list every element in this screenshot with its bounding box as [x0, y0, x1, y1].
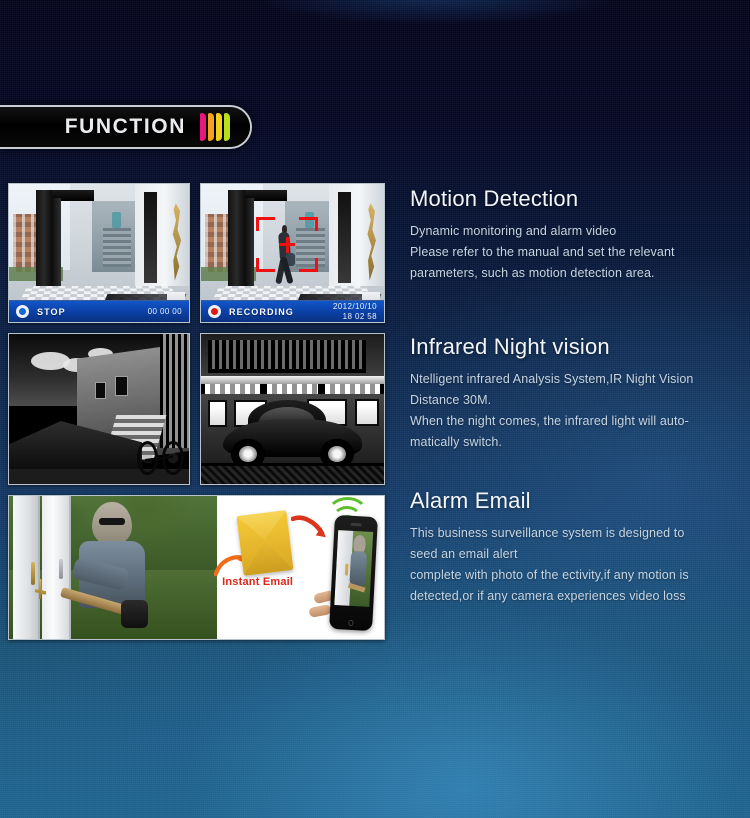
- instant-email-caption: Instant Email: [222, 576, 293, 588]
- banner-shell: FUNCTION: [0, 105, 252, 149]
- burglary-photo: [9, 496, 217, 639]
- banner-bar-3: [216, 113, 222, 141]
- banner-bar-4: [224, 113, 230, 141]
- stop-indicator-icon: [16, 305, 29, 318]
- feature-infrared-night-vision: Infrared Night vision Ntelligent infrare…: [410, 334, 750, 453]
- scene-night-street: [9, 334, 189, 484]
- feature-line: When the night comes, the infrared light…: [410, 411, 750, 432]
- function-banner: FUNCTION: [0, 105, 252, 149]
- phone-home-button: [349, 619, 354, 626]
- night-bicycle: [137, 430, 184, 475]
- dvr-status-bar-stop: STOP 00 00 00: [9, 300, 189, 322]
- banner-color-bars: [200, 112, 230, 142]
- night-ledge: [201, 376, 384, 384]
- burglar-eye-slit: [99, 518, 125, 525]
- banner-inner: FUNCTION: [0, 107, 250, 147]
- media-panel-alarm-email: Instant Email: [8, 495, 385, 640]
- recording-datetime: 2012/10/10 18 02 58: [333, 302, 377, 320]
- feature-line: parameters, such as motion detection are…: [410, 263, 750, 284]
- feature-line: matically switch.: [410, 432, 750, 453]
- burglar-glove: [121, 600, 148, 628]
- feature-line: Ntelligent infrared Analysis System,IR N…: [410, 369, 750, 390]
- phone-screen: [334, 530, 373, 607]
- recording-indicator-icon: [208, 305, 221, 318]
- media-panel-motion-recording: RECORDING 2012/10/10 18 02 58: [200, 183, 385, 323]
- email-flow-diagram: Instant Email: [217, 496, 384, 639]
- phone-burglar-torso: [350, 551, 368, 586]
- night-window-1: [115, 376, 128, 396]
- scene-night-car: [201, 334, 384, 484]
- night-awning-3: [325, 384, 380, 395]
- smartphone: [329, 515, 378, 632]
- feature-line: Dynamic monitoring and alarm video: [410, 221, 750, 242]
- night-window-2: [95, 382, 106, 399]
- lobby-door-frame: [36, 190, 52, 300]
- arrow-to-phone-icon: [291, 510, 328, 544]
- lobby-dark-panel: [338, 192, 351, 283]
- lobby-door-leaf: [245, 198, 254, 292]
- night-parked-car: [223, 403, 362, 469]
- detect-corner-br: [299, 258, 318, 272]
- feature-line: complete with photo of the ectivity,if a…: [410, 565, 750, 586]
- recording-date: 2012/10/10: [333, 302, 377, 311]
- night-awning-1: [205, 384, 260, 395]
- lobby-dark-panel: [144, 192, 157, 283]
- lobby-door-leaf: [52, 198, 61, 292]
- dvr-status-bar-recording: RECORDING 2012/10/10 18 02 58: [201, 300, 384, 322]
- lobby-teal-accent: [112, 212, 121, 229]
- feature-title: Motion Detection: [410, 186, 750, 212]
- media-panel-motion-stop: STOP 00 00 00: [8, 183, 190, 323]
- media-panel-night-car: [200, 333, 385, 485]
- detect-corner-tr: [299, 217, 318, 231]
- media-panel-night-street: [8, 333, 190, 485]
- door-panel-inner: [42, 496, 71, 639]
- feature-alarm-email: Alarm Email This business surveillance s…: [410, 488, 750, 607]
- stop-status-label: STOP: [37, 307, 66, 317]
- phone-screen-burglar: [349, 535, 372, 602]
- burglar-figure: [71, 499, 163, 639]
- night-balcony-railing: [208, 340, 365, 373]
- feature-title: Alarm Email: [410, 488, 750, 514]
- feature-line: This business surveillance system is des…: [410, 523, 750, 544]
- banner-bar-2: [208, 113, 214, 141]
- feature-title: Infrared Night vision: [410, 334, 750, 360]
- car-wheel-rear: [231, 439, 264, 469]
- stop-timecode: 00 00 00: [148, 307, 182, 316]
- phone-earpiece: [351, 523, 362, 527]
- email-envelope-icon: [237, 510, 294, 576]
- banner-bar-1: [200, 113, 206, 141]
- door-panel-outer: [13, 496, 40, 639]
- car-wheel-front: [320, 439, 353, 469]
- banner-title: FUNCTION: [65, 115, 186, 139]
- lobby-stairs: [103, 225, 132, 266]
- feature-line: Please refer to the manual and set the r…: [410, 242, 750, 263]
- crosshair-icon: [279, 237, 295, 253]
- door-handle-steel: [59, 559, 63, 579]
- detect-corner-bl: [256, 258, 275, 272]
- detect-corner-tl: [256, 217, 275, 231]
- scene-alarm-email: Instant Email: [9, 496, 384, 639]
- recording-timecode: 18 02 58: [343, 312, 377, 321]
- lobby-door-frame: [228, 190, 244, 300]
- night-awning-2: [267, 384, 318, 395]
- feature-line: seed an email alert: [410, 544, 750, 565]
- feature-line: detected,or if any camera experiences vi…: [410, 586, 750, 607]
- motion-detection-box: [256, 217, 318, 272]
- recording-status-label: RECORDING: [229, 307, 294, 317]
- feature-line: Distance 30M.: [410, 390, 750, 411]
- night-cobblestone: [201, 466, 384, 484]
- hand-finger-2: [308, 604, 331, 618]
- feature-motion-detection: Motion Detection Dynamic monitoring and …: [410, 186, 750, 284]
- background-top-glow: [0, 0, 750, 40]
- door-handle-brass: [31, 562, 36, 585]
